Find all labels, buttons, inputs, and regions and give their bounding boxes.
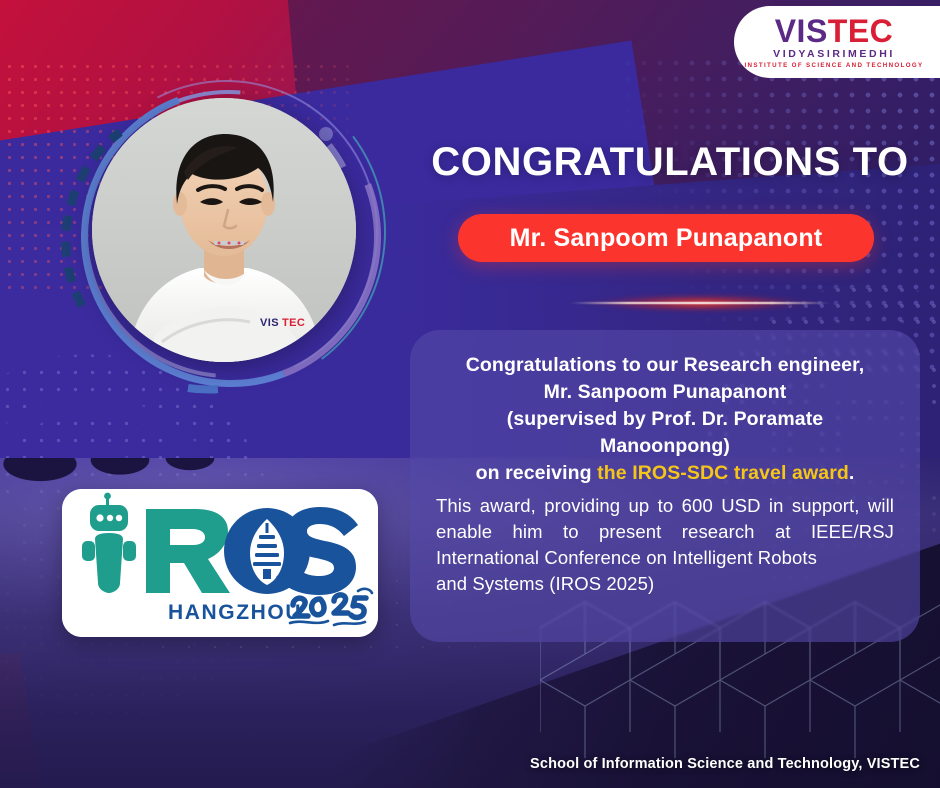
portrait-frame: VIS TEC [92,98,356,362]
citation-paragraph-last-line: and Systems (IROS 2025) [436,571,894,597]
glow-divider-core [570,302,830,304]
awardee-name-badge: Mr. Sanpoom Punapanont [458,214,874,262]
citation-line-4: Manoonpong) [436,433,894,460]
iros-logo-card: HANGZHOU [62,489,378,637]
awardee-name-label: Mr. Sanpoom Punapanont [510,224,823,253]
award-name-highlight: the IROS-SDC travel award [597,462,849,484]
vistec-logo: VISTEC VIDYASIRIMEDHI INSTITUTE OF SCIEN… [734,6,940,78]
svg-text:TEC: TEC [282,317,305,329]
awardee-photo: VIS TEC [92,98,356,362]
footer-school-label: School of Information Science and Techno… [530,756,920,772]
vistec-wordmark-vis: VIS [775,13,828,49]
citation-panel: Congratulations to our Research engineer… [410,330,920,642]
iros-city-label: HANGZHOU [168,601,302,624]
vistec-subtitle: VIDYASIRIMEDHI [773,49,895,60]
citation-receiving-prefix: on receiving [476,462,598,484]
citation-line-3: (supervised by Prof. Dr. Poramate [436,406,894,433]
vistec-tagline: INSTITUTE OF SCIENCE AND TECHNOLOGY [744,63,923,69]
svg-text:VIS: VIS [260,317,279,329]
citation-line-2: Mr. Sanpoom Punapanont [436,379,894,406]
citation-line-1: Congratulations to our Research engineer… [436,352,894,379]
vistec-wordmark-tec: TEC [828,13,894,49]
congratulations-poster: VISTEC VIDYASIRIMEDHI INSTITUTE OF SCIEN… [0,0,940,788]
citation-bold-block: Congratulations to our Research engineer… [436,352,894,487]
glow-divider [545,290,855,316]
vistec-wordmark: VISTEC [775,15,894,47]
citation-period: . [849,462,855,484]
citation-line-5: on receiving the IROS-SDC travel award. [436,460,894,487]
citation-paragraph: This award, providing up to 600 USD in s… [436,493,894,598]
page-title: CONGRATULATIONS TO [420,140,920,184]
citation-paragraph-text: This award, providing up to 600 USD in s… [436,495,894,569]
